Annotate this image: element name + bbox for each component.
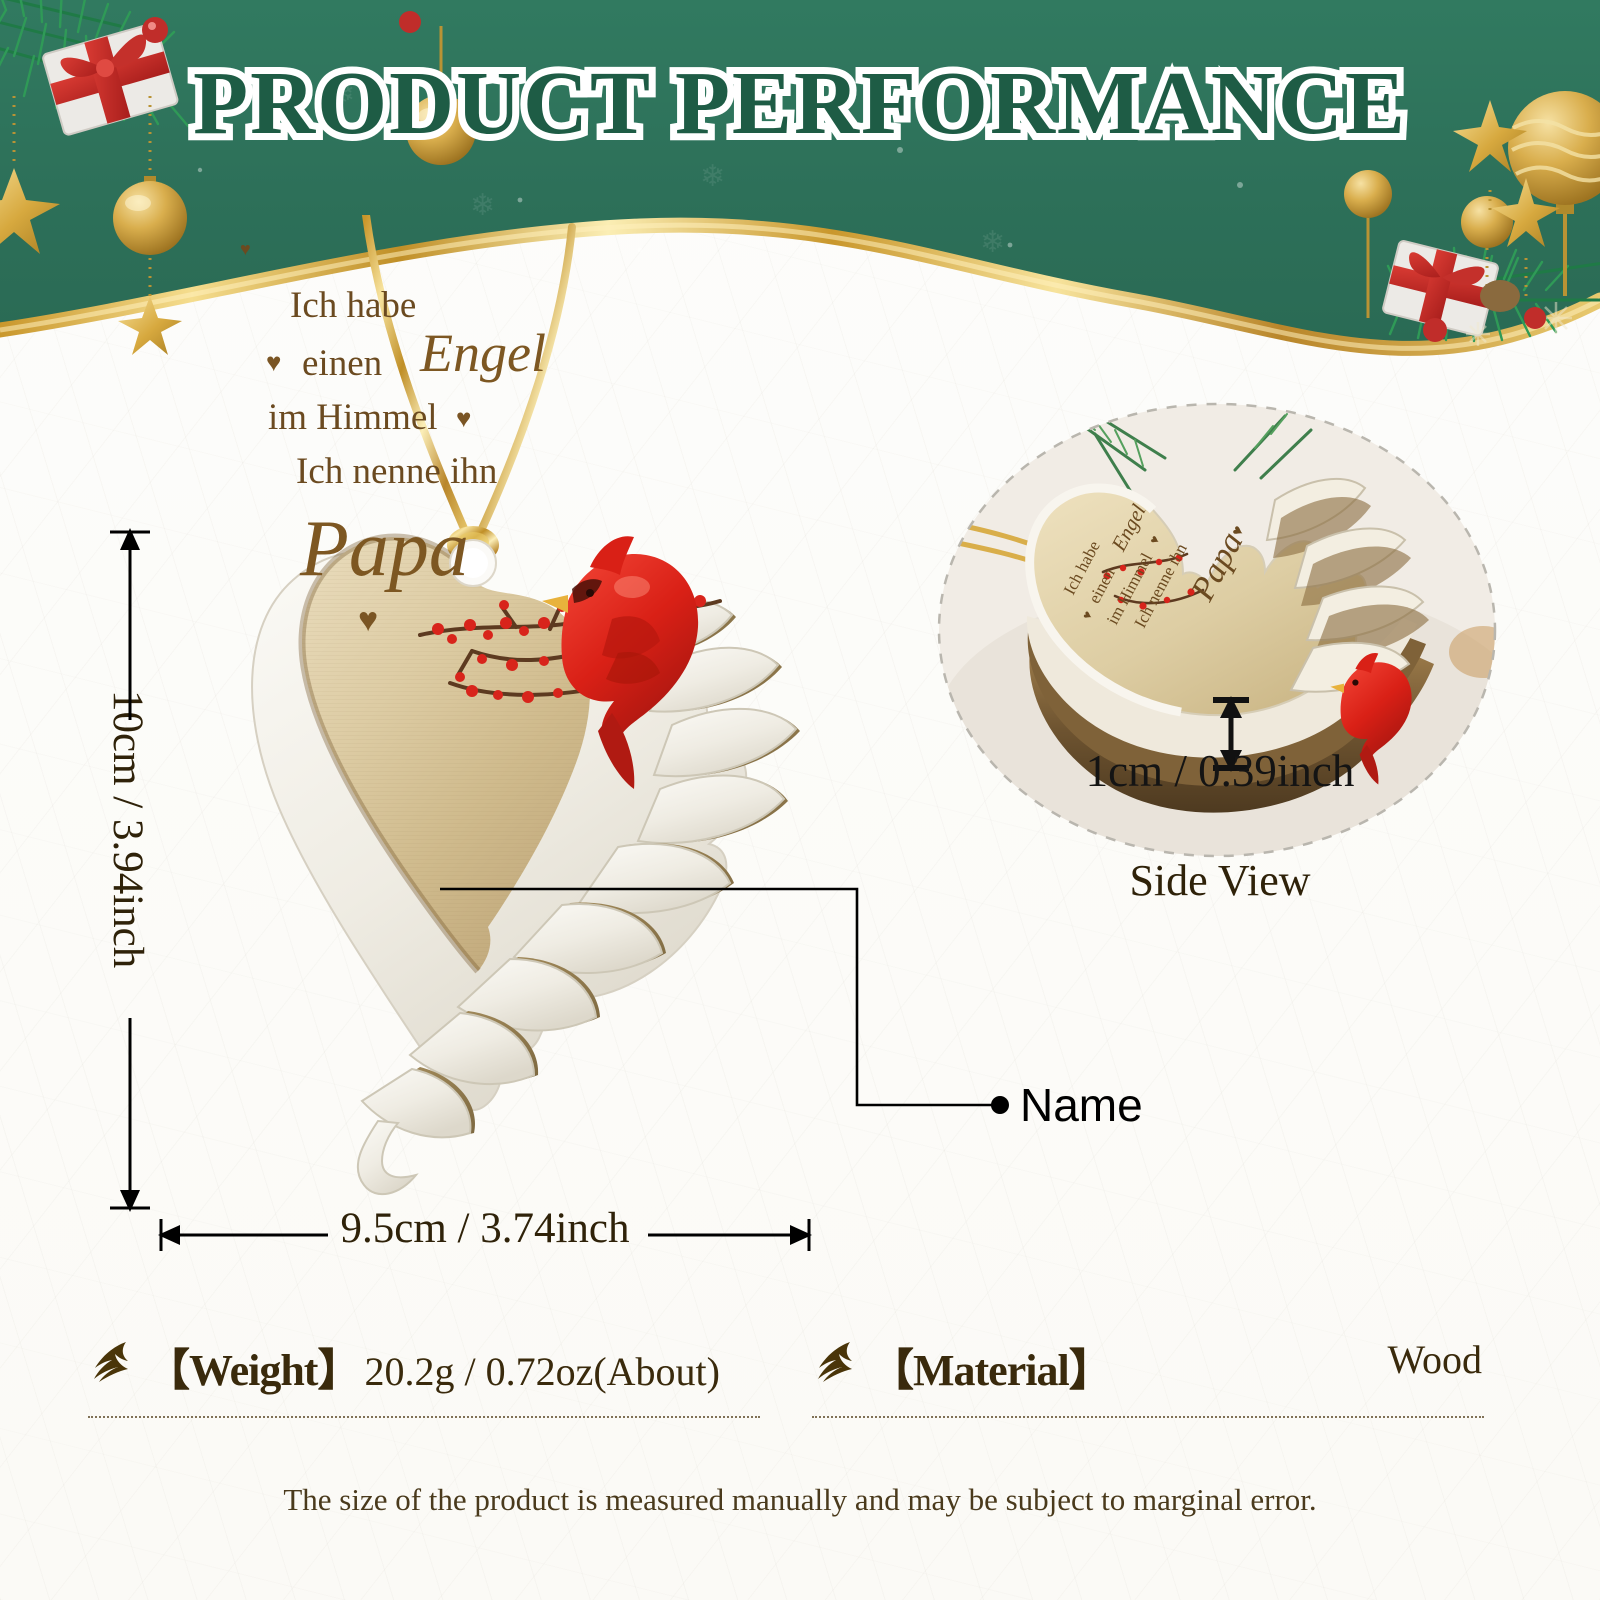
spec-material-divider: [812, 1416, 1484, 1418]
height-dimension-line: [96, 520, 176, 1220]
svg-text:♥: ♥: [358, 602, 378, 639]
svg-text:♥: ♥: [456, 404, 471, 433]
spec-weight-value: 20.2g / 0.72oz(About): [364, 1349, 720, 1394]
svg-text:♥: ♥: [240, 239, 251, 259]
wing-icon: [812, 1338, 856, 1382]
name-callout-label: Name: [1020, 1078, 1143, 1132]
red-berry: [399, 11, 421, 33]
page-title: PRODUCT PERFORMANCE: [193, 52, 1407, 155]
spec-weight-key: 【Weight】: [146, 1346, 360, 1395]
spec-weight: 【Weight】 20.2g / 0.72oz(About): [88, 1334, 760, 1398]
svg-text:❄: ❄: [980, 225, 1005, 260]
svg-text:im Himmel: im Himmel: [268, 397, 438, 438]
red-berry: [142, 17, 168, 43]
engraved-script-engel: Engel: [419, 323, 546, 383]
side-view-caption: Side View: [960, 855, 1480, 906]
svg-text:♥: ♥: [266, 348, 281, 377]
footer-note: The size of the product is measured manu…: [0, 1482, 1600, 1518]
callout-dot: [991, 1096, 1009, 1114]
page-title-wrap: PRODUCT PERFORMANCE: [0, 52, 1600, 155]
name-callout-leader: [440, 880, 1020, 1130]
wing-icon: [88, 1338, 132, 1382]
spec-material-value: Wood: [1387, 1336, 1482, 1383]
spec-material: 【Material】 Wood: [812, 1334, 1484, 1398]
infographic-page: ❄❄ ❄❄ ❄ PRODUCT PERFORMANCE: [0, 0, 1600, 1600]
spec-material-key: 【Material】: [870, 1346, 1112, 1395]
engraved-text: ♥ Ich habe ♥ einen Engel im Himmel ♥ Ich…: [240, 239, 546, 639]
thickness-dimension-label: 1cm / 0.39inch: [960, 745, 1480, 797]
engraved-line-1: Ich habe: [290, 285, 416, 326]
svg-text:einen: einen: [302, 343, 382, 384]
red-berry: [1524, 307, 1546, 329]
pinecone: [1480, 280, 1520, 312]
width-dimension-line: [150, 1205, 820, 1265]
red-berry: [1423, 318, 1447, 342]
engraved-name: Papa: [299, 505, 469, 593]
spec-weight-divider: [88, 1416, 760, 1418]
engraved-line-4: Ich nenne ihn: [296, 451, 497, 492]
svg-text:❄: ❄: [700, 159, 725, 194]
